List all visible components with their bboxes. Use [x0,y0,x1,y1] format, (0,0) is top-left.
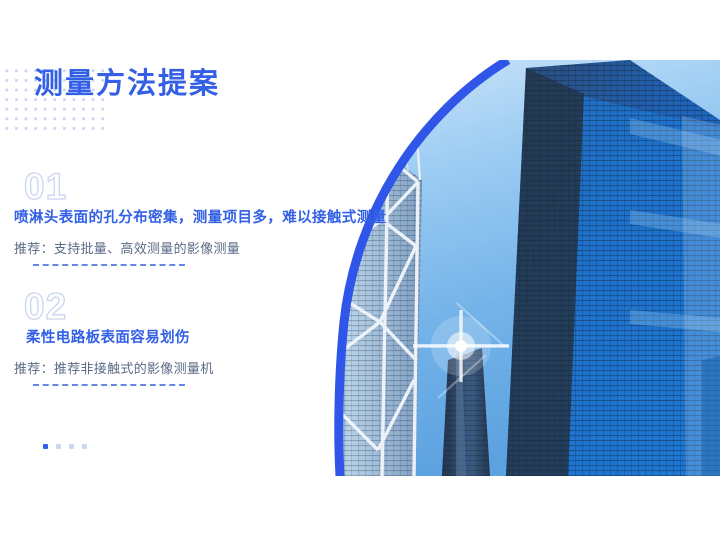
block-heading-01: 喷淋头表面的孔分布密集，测量项目多，难以接触式测量 [14,206,387,227]
block-divider-02 [33,384,185,386]
block-number-02: 02 [24,288,67,325]
page-title-text: 测量方法提案 [34,70,220,99]
page-title: 测量方法提案 [34,70,220,99]
slide-canvas: 测量方法提案 [0,0,720,540]
pagination-dots[interactable] [43,444,87,449]
block-divider-01 [33,264,185,266]
artwork-clip-svg [330,60,720,476]
block-number-01: 01 [24,168,67,205]
pagination-dot-1[interactable] [43,444,48,449]
pagination-dot-3[interactable] [69,444,74,449]
artwork-panel [330,60,720,476]
main-tower [506,60,720,476]
block-subtext-02: 推荐：推荐非接触式的影像测量机 [14,358,214,377]
pagination-dot-2[interactable] [56,444,61,449]
right-tower [702,356,720,476]
block-subtext-01: 推荐：支持批量、高效测量的影像测量 [14,238,240,257]
pagination-dot-4[interactable] [82,444,87,449]
block-heading-02: 柔性电路板表面容易划伤 [26,326,190,347]
photo-content [330,60,720,476]
